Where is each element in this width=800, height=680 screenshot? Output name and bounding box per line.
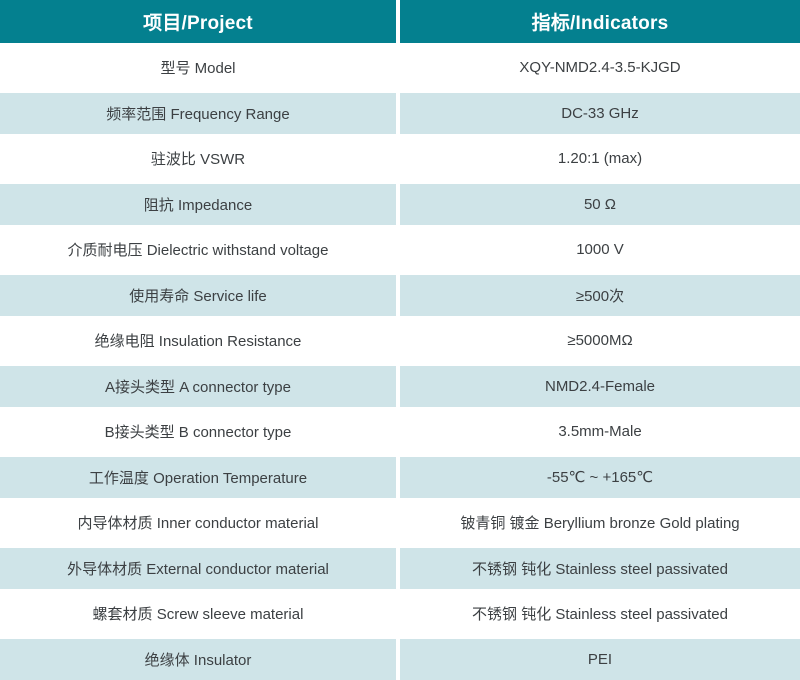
cell-indicator: ≥500次 — [400, 273, 800, 319]
cell-project: 内导体材质 Inner conductor material — [0, 500, 400, 546]
table-row: 螺套材质 Screw sleeve material不锈钢 钝化 Stainle… — [0, 591, 800, 637]
column-header-project: 项目/Project — [0, 0, 400, 45]
cell-project: A接头类型 A connector type — [0, 364, 400, 410]
cell-indicator: 1.20:1 (max) — [400, 136, 800, 182]
table-row: A接头类型 A connector typeNMD2.4-Female — [0, 364, 800, 410]
cell-indicator: 50 Ω — [400, 182, 800, 228]
table-row: 工作温度 Operation Temperature-55℃ ~ +165℃ — [0, 455, 800, 501]
cell-project: 阻抗 Impedance — [0, 182, 400, 228]
cell-indicator: -55℃ ~ +165℃ — [400, 455, 800, 501]
table-row: 绝缘体 InsulatorPEI — [0, 637, 800, 680]
table-row: B接头类型 B connector type3.5mm-Male — [0, 409, 800, 455]
table-row: 介质耐电压 Dielectric withstand voltage1000 V — [0, 227, 800, 273]
table-row: 驻波比 VSWR1.20:1 (max) — [0, 136, 800, 182]
cell-indicator: DC-33 GHz — [400, 91, 800, 137]
cell-project: 螺套材质 Screw sleeve material — [0, 591, 400, 637]
cell-indicator: XQY-NMD2.4-3.5-KJGD — [400, 45, 800, 91]
cell-project: 外导体材质 External conductor material — [0, 546, 400, 592]
cell-indicator: 铍青铜 镀金 Beryllium bronze Gold plating — [400, 500, 800, 546]
column-header-indicator: 指标/Indicators — [400, 0, 800, 45]
cell-project: 使用寿命 Service life — [0, 273, 400, 319]
table-row: 型号 ModelXQY-NMD2.4-3.5-KJGD — [0, 45, 800, 91]
cell-indicator: PEI — [400, 637, 800, 680]
cell-indicator: 1000 V — [400, 227, 800, 273]
table-header: 项目/Project 指标/Indicators — [0, 0, 800, 45]
cell-indicator: 3.5mm-Male — [400, 409, 800, 455]
table-header-row: 项目/Project 指标/Indicators — [0, 0, 800, 45]
cell-indicator: 不锈钢 钝化 Stainless steel passivated — [400, 591, 800, 637]
cell-project: 频率范围 Frequency Range — [0, 91, 400, 137]
cell-project: 驻波比 VSWR — [0, 136, 400, 182]
table-row: 使用寿命 Service life≥500次 — [0, 273, 800, 319]
cell-project: 绝缘电阻 Insulation Resistance — [0, 318, 400, 364]
cell-indicator: 不锈钢 钝化 Stainless steel passivated — [400, 546, 800, 592]
table-row: 外导体材质 External conductor material不锈钢 钝化 … — [0, 546, 800, 592]
table-row: 频率范围 Frequency RangeDC-33 GHz — [0, 91, 800, 137]
table-body: 型号 ModelXQY-NMD2.4-3.5-KJGD频率范围 Frequenc… — [0, 45, 800, 680]
cell-project: 绝缘体 Insulator — [0, 637, 400, 680]
cell-project: 介质耐电压 Dielectric withstand voltage — [0, 227, 400, 273]
cell-indicator: NMD2.4-Female — [400, 364, 800, 410]
cell-project: 工作温度 Operation Temperature — [0, 455, 400, 501]
cell-project: 型号 Model — [0, 45, 400, 91]
cell-indicator: ≥5000MΩ — [400, 318, 800, 364]
table-row: 绝缘电阻 Insulation Resistance≥5000MΩ — [0, 318, 800, 364]
cell-project: B接头类型 B connector type — [0, 409, 400, 455]
table-row: 内导体材质 Inner conductor material铍青铜 镀金 Ber… — [0, 500, 800, 546]
table-row: 阻抗 Impedance50 Ω — [0, 182, 800, 228]
specification-table: 项目/Project 指标/Indicators 型号 ModelXQY-NMD… — [0, 0, 800, 680]
